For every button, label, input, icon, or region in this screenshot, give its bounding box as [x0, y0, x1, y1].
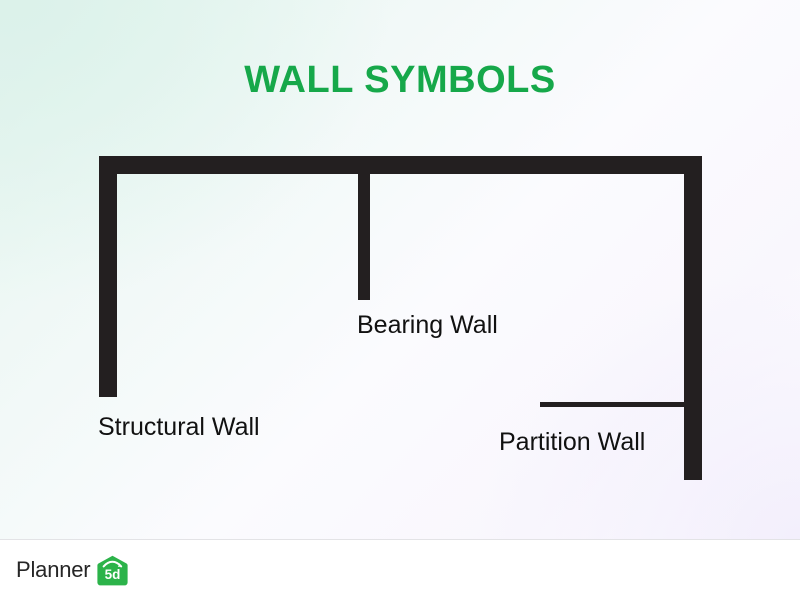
logo-badge-text: 5d: [105, 567, 121, 582]
logo-wordmark: Planner: [16, 559, 90, 581]
wall-symbols-diagram: Structural Wall Bearing Wall Partition W…: [0, 0, 800, 539]
house-badge-svg: 5d: [97, 555, 128, 586]
partition-wall: [540, 402, 688, 407]
structural-wall-label: Structural Wall: [98, 413, 260, 442]
house-badge-icon: 5d: [97, 555, 128, 586]
footer-bar: Planner 5d 5d: [0, 539, 800, 600]
planner5d-logo[interactable]: Planner 5d 5d: [16, 552, 128, 588]
bearing-wall-label: Bearing Wall: [357, 311, 498, 340]
structural-wall-left: [99, 156, 117, 397]
partition-wall-label: Partition Wall: [499, 428, 645, 457]
slide-canvas: WALL SYMBOLS Structural Wall Bearing Wal…: [0, 0, 800, 539]
structural-wall-top: [99, 156, 702, 174]
slide-page: WALL SYMBOLS Structural Wall Bearing Wal…: [0, 0, 800, 600]
structural-wall-right: [684, 156, 702, 480]
bearing-wall: [358, 166, 370, 300]
